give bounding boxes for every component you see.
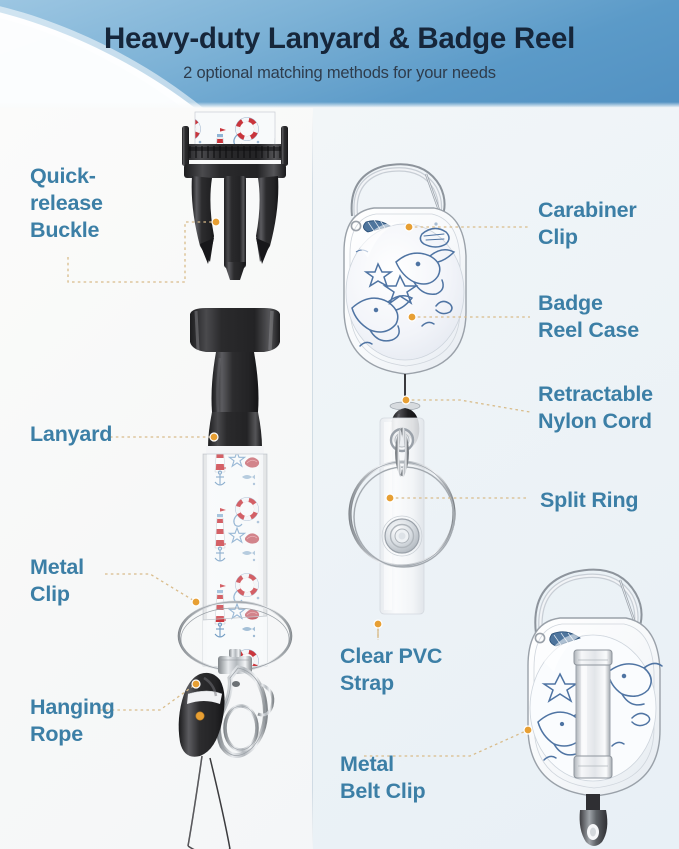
page-subtitle: 2 optional matching methods for your nee… <box>0 64 679 83</box>
label-lanyard: Lanyard <box>30 421 112 448</box>
label-split-ring: Split Ring <box>540 487 638 514</box>
page-title: Heavy-duty Lanyard & Badge Reel <box>0 22 679 56</box>
header-banner: Heavy-duty Lanyard & Badge Reel 2 option… <box>0 0 679 108</box>
label-badge-reel-case: Badge Reel Case <box>538 290 639 344</box>
label-metal-clip: Metal Clip <box>30 554 84 608</box>
label-carabiner-clip: Carabiner Clip <box>538 197 637 251</box>
product-infographic: Heavy-duty Lanyard & Badge Reel 2 option… <box>0 0 679 849</box>
label-hanging-rope: Hanging Rope <box>30 694 115 748</box>
label-metal-belt-clip: Metal Belt Clip <box>340 751 425 805</box>
label-quick-release-buckle: Quick- release Buckle <box>30 163 103 244</box>
label-retractable-nylon-cord: Retractable Nylon Cord <box>538 381 653 435</box>
label-clear-pvc-strap: Clear PVC Strap <box>340 643 442 697</box>
